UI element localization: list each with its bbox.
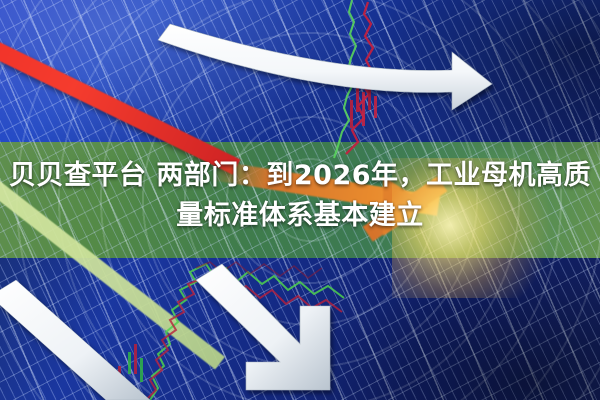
headline-line-2: 量标准体系基本建立 xyxy=(0,196,600,236)
background-band-bottom xyxy=(0,258,600,400)
news-banner-image: 贝贝查平台 两部门：到2026年，工业母机高质 量标准体系基本建立 xyxy=(0,0,600,400)
background-band-top xyxy=(0,0,600,142)
headline-line-1: 贝贝查平台 两部门：到2026年，工业母机高质 xyxy=(0,156,600,196)
headline-text: 贝贝查平台 两部门：到2026年，工业母机高质 量标准体系基本建立 xyxy=(0,156,600,236)
